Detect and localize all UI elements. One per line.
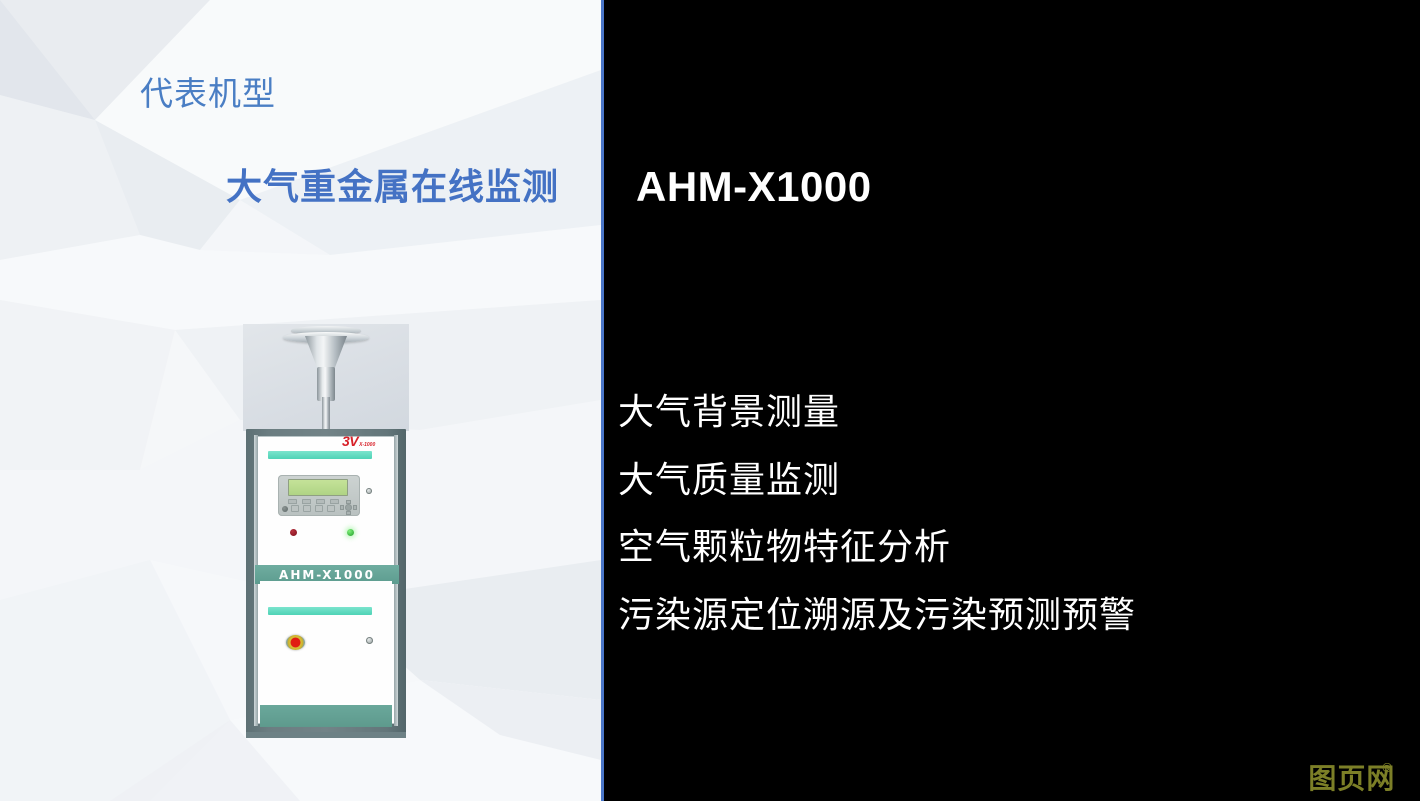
slide-canvas: 代表机型 大气重金属在线监测 3VX-1000 <box>0 0 1420 801</box>
list-item: 空气颗粒物特征分析 <box>618 513 1408 581</box>
feature-list: 大气背景测量 大气质量监测 空气颗粒物特征分析 污染源定位溯源及污染预测预警 <box>618 378 1408 649</box>
status-led-green <box>347 529 354 536</box>
model-name-heading: AHM-X1000 <box>636 163 872 211</box>
sampling-inlet-tube-icon <box>317 367 335 401</box>
dpad-down-icon[interactable] <box>346 511 351 515</box>
page-subtitle: 大气重金属在线监测 <box>226 166 559 207</box>
brand-logo-text: 3V <box>342 433 358 449</box>
nameplate-label: AHM-X1000 <box>279 568 375 582</box>
sampling-inlet-stem-icon <box>322 397 330 433</box>
softkey-4[interactable] <box>330 499 339 504</box>
upper-accent-bar <box>268 451 372 459</box>
keypad-button-4[interactable] <box>327 505 335 512</box>
power-button-icon[interactable] <box>282 506 288 512</box>
keypad-button-3[interactable] <box>315 505 323 512</box>
site-watermark: 图页网 ® <box>1308 765 1406 793</box>
page-kicker: 代表机型 <box>140 75 276 113</box>
lower-accent-bar <box>268 607 372 615</box>
softkey-3[interactable] <box>316 499 325 504</box>
keypad-button-2[interactable] <box>303 505 311 512</box>
cabinet-foot <box>246 732 406 738</box>
upper-panel-screw-icon <box>366 488 372 494</box>
lcd-display <box>288 479 348 496</box>
keypad-button-1[interactable] <box>291 505 299 512</box>
status-led-red <box>290 529 297 536</box>
lower-panel-screw-icon <box>366 637 373 644</box>
left-panel: 代表机型 大气重金属在线监测 3VX-1000 <box>0 0 601 801</box>
brand-logo-3v: 3VX-1000 <box>342 434 375 448</box>
product-photo: 3VX-1000 <box>243 324 409 738</box>
instrument-cabinet: 3VX-1000 <box>246 429 406 738</box>
emergency-stop-button[interactable] <box>286 635 305 650</box>
brand-logo-subtext: X-1000 <box>359 442 375 448</box>
control-keypad[interactable] <box>278 475 360 516</box>
dpad-center-icon[interactable] <box>345 504 352 511</box>
dpad-navigation[interactable] <box>340 500 357 515</box>
softkey-2[interactable] <box>302 499 311 504</box>
softkey-1[interactable] <box>288 499 297 504</box>
list-item: 污染源定位溯源及污染预测预警 <box>618 581 1408 649</box>
list-item: 大气背景测量 <box>618 378 1408 446</box>
dpad-right-icon[interactable] <box>353 505 357 510</box>
registered-trademark-icon: ® <box>1382 761 1393 774</box>
cabinet-base-plinth <box>260 705 392 727</box>
list-item: 大气质量监测 <box>618 446 1408 514</box>
right-panel: AHM-X1000 大气背景测量 大气质量监测 空气颗粒物特征分析 污染源定位溯… <box>604 0 1420 801</box>
dpad-left-icon[interactable] <box>340 505 344 510</box>
